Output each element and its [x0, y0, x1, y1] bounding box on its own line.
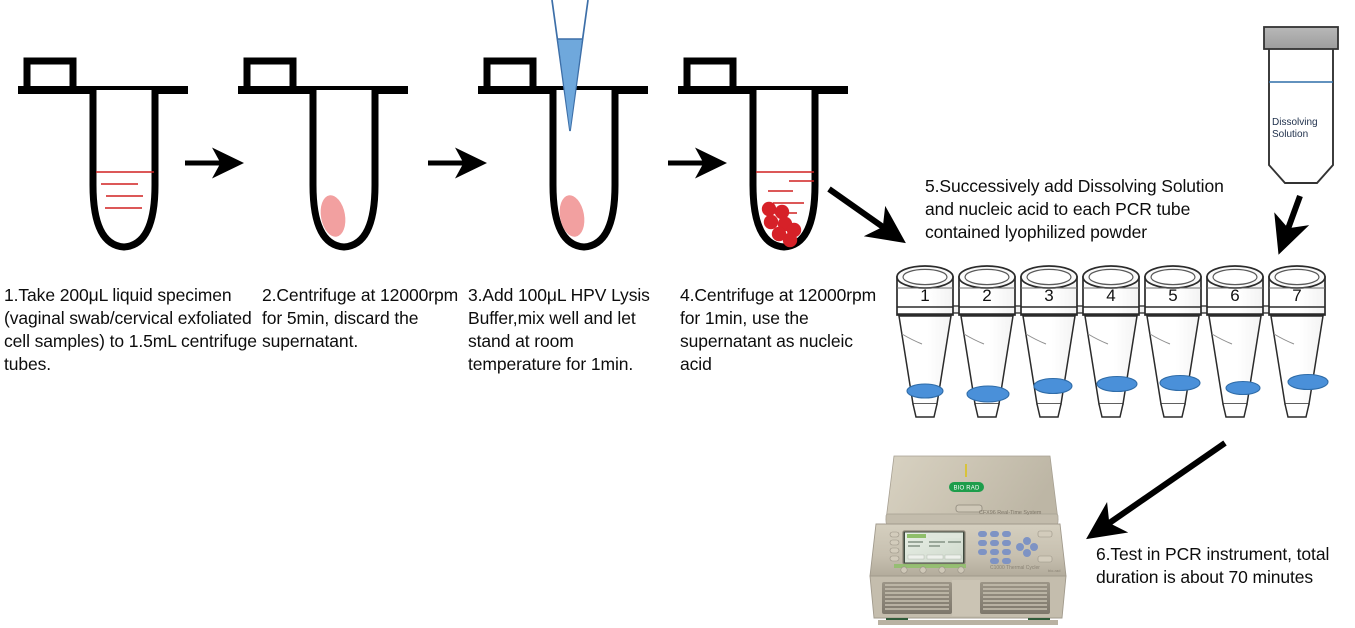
pcr-tube-4: 4 — [1083, 266, 1139, 417]
step-4-caption: 4.Centrifuge at 12000rpm for 1min, use t… — [680, 284, 880, 376]
workflow-diagram: 1 2 — [0, 0, 1355, 628]
reagent-tube-body — [1269, 46, 1333, 183]
pcr-tube-6: 6 — [1207, 266, 1263, 417]
pcr-tube-1-liquid — [907, 384, 943, 398]
step-3-caption: 3.Add 100μL HPV Lysis Buffer,mix well an… — [468, 284, 668, 376]
centrifuge-tube-step-1 — [18, 61, 188, 247]
tube-4-lid-cap — [687, 61, 733, 86]
pcr-tube-5-number: 5 — [1168, 286, 1177, 305]
centrifuge-tube-step-2 — [238, 61, 408, 247]
instrument-brand-small: bio-rad — [1048, 568, 1060, 573]
status-indicator — [965, 464, 967, 477]
step-1-caption: 1.Take 200μL liquid specimen (vaginal sw… — [4, 284, 262, 376]
pcr-tube-7-number: 7 — [1292, 286, 1301, 305]
arrow-reagent-to-pcr-strip — [1281, 196, 1300, 248]
tube-3-lid-cap — [487, 61, 533, 86]
centrifuge-tube-step-4 — [678, 61, 848, 247]
tube-1-body — [93, 90, 155, 247]
vent-right-slats — [983, 585, 1047, 609]
pcr-tube-strip: 1 2 — [897, 266, 1328, 417]
tube-1-lid-cap — [27, 61, 73, 86]
step-5-caption: 5.Successively add Dissolving Solution a… — [925, 175, 1255, 244]
instrument-base — [870, 576, 1066, 625]
pcr-tube-3-number: 3 — [1044, 286, 1053, 305]
tube-2-lid-cap — [247, 61, 293, 86]
pcr-tube-7: 7 — [1269, 266, 1328, 417]
arrow-step4-to-pcr-strip — [829, 189, 900, 239]
pcr-tube-5: 5 — [1145, 266, 1201, 417]
instrument-body: C1000 Thermal Cycler bio-rad — [870, 524, 1066, 576]
pcr-tube-1-number: 1 — [920, 286, 929, 305]
pcr-tube-4-number: 4 — [1106, 286, 1115, 305]
centrifuge-tube-step-3 — [478, 61, 648, 247]
pcr-instrument-illustration: BIO RAD CFX96 Real-Time System — [852, 452, 1084, 628]
vent-left-slats — [885, 585, 949, 609]
pcr-tube-2-number: 2 — [982, 286, 991, 305]
arrow-pcr-strip-to-instrument — [1092, 443, 1225, 535]
svg-text:BIO RAD: BIO RAD — [953, 486, 980, 492]
pcr-tube-3-liquid — [1034, 379, 1072, 394]
pcr-tube-2-liquid — [967, 386, 1009, 402]
dissolving-solution-label: Dissolving Solution — [1272, 117, 1324, 141]
pcr-tube-6-liquid — [1226, 382, 1260, 395]
instrument-lid: BIO RAD CFX96 Real-Time System — [886, 456, 1058, 524]
pcr-tube-6-number: 6 — [1230, 286, 1239, 305]
instrument-base-label: C1000 Thermal Cycler — [990, 565, 1040, 571]
pcr-tube-1: 1 — [897, 266, 953, 417]
step-2-caption: 2.Centrifuge at 12000rpm for 5min, disca… — [262, 284, 474, 353]
pcr-tube-7-liquid — [1288, 375, 1328, 390]
reagent-tube-cap — [1264, 27, 1338, 49]
pcr-tube-3: 3 — [1021, 266, 1077, 417]
step-6-caption: 6.Test in PCR instrument, total duration… — [1096, 543, 1346, 589]
pcr-tube-4-liquid — [1097, 377, 1137, 392]
instrument-model-label: CFX96 Real-Time System — [979, 510, 1042, 516]
pcr-tube-5-liquid — [1160, 376, 1200, 391]
pcr-tube-2: 2 — [959, 266, 1015, 417]
dissolving-solution-tube — [1264, 27, 1338, 183]
bio-rad-logo: BIO RAD — [949, 482, 984, 492]
